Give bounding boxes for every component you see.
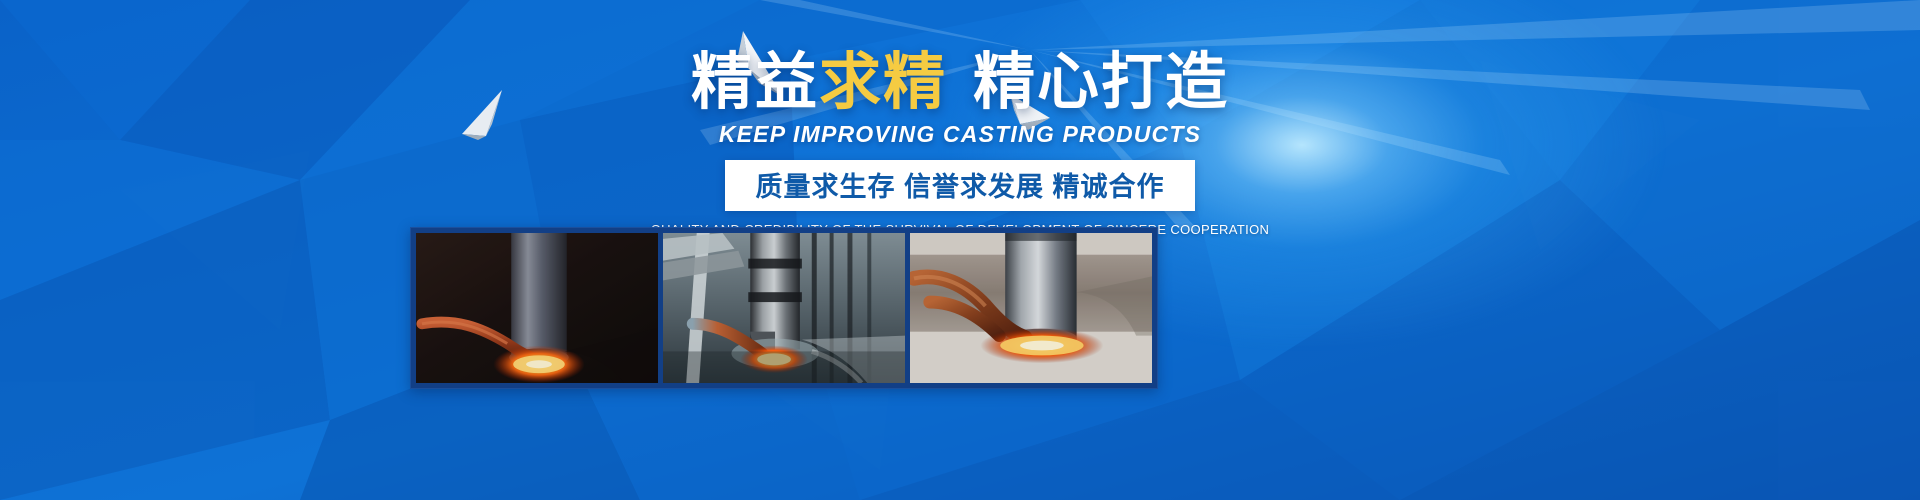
photo-copper-induction-coil-closeup[interactable]: [910, 233, 1152, 383]
headline-part-2-gold: 求精: [819, 48, 947, 117]
subtitle-english: KEEP IMPROVING CASTING PRODUCTS: [0, 121, 1920, 148]
slogan-ribbon-text: 质量求生存 信誉求发展 精诚合作: [755, 172, 1164, 202]
photo-induction-heating-coil-ring[interactable]: [416, 233, 658, 383]
headline: 精益求精精心打造: [0, 50, 1920, 115]
photo-strip: [410, 227, 1158, 389]
slogan-ribbon: 质量求生存 信誉求发展 精诚合作: [725, 160, 1194, 211]
banner-copy: 精益求精精心打造 KEEP IMPROVING CASTING PRODUCTS…: [0, 0, 1920, 237]
headline-part-1: 精益: [691, 48, 819, 117]
ribbon-wrapper: 质量求生存 信誉求发展 精诚合作: [0, 160, 1920, 211]
headline-part-3: 精心打造: [973, 48, 1229, 117]
promo-banner: 精益求精精心打造 KEEP IMPROVING CASTING PRODUCTS…: [0, 0, 1920, 500]
photo-induction-quenching-machine[interactable]: [663, 233, 905, 383]
